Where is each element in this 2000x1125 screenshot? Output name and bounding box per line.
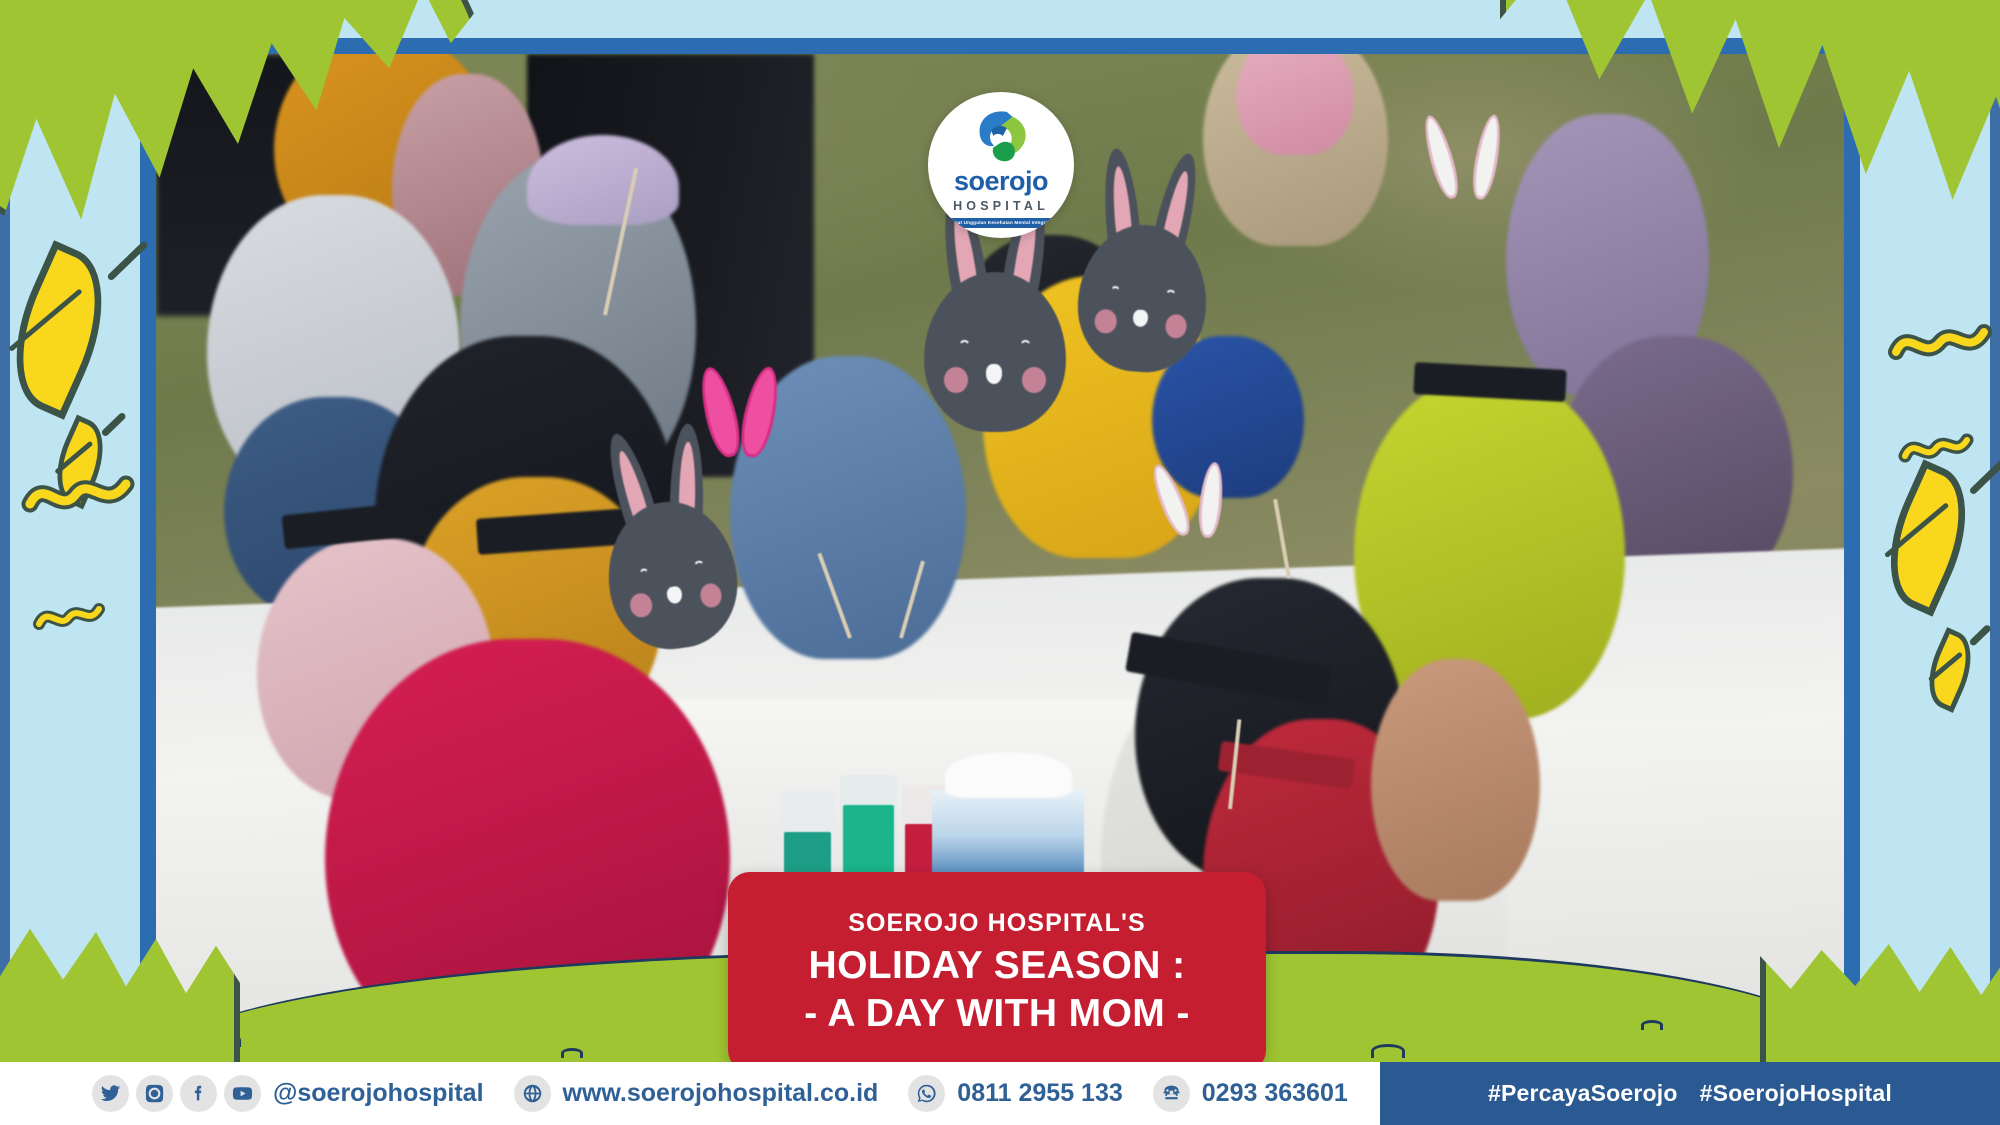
event-title-banner: SOEROJO HOSPITAL'S HOLIDAY SEASON : - A … [728, 872, 1266, 1072]
soerojo-hospital-logo: soerojo HOSPITAL Pusat Unggulan Kesehata… [928, 92, 1074, 238]
website-group: www.soerojohospital.co.id [514, 1075, 879, 1112]
instagram-icon[interactable] [136, 1075, 173, 1112]
twitter-icon[interactable] [92, 1075, 129, 1112]
squiggle-icon-3 [1900, 430, 1972, 466]
footer-hashtag-area: #PercayaSoerojo #SoerojoHospital [1380, 1062, 2000, 1125]
phone-text: 0293 363601 [1202, 1079, 1348, 1108]
youtube-icon[interactable] [224, 1075, 261, 1112]
footer-bar: @soerojohospital www.soerojohospital.co.… [0, 1062, 2000, 1125]
squiggle-icon-2 [1890, 320, 1990, 366]
banner-line-2: HOLIDAY SEASON : [809, 944, 1186, 988]
social-handle-group: @soerojohospital [92, 1075, 484, 1112]
white-bunny-ears-1 [1430, 114, 1520, 224]
whatsapp-group: 0811 2955 133 [908, 1075, 1122, 1112]
phone-group: 0293 363601 [1153, 1075, 1348, 1112]
leaf-icon-1 [0, 240, 129, 420]
website-text: www.soerojohospital.co.id [563, 1079, 879, 1108]
banner-line-1: SOEROJO HOSPITAL'S [848, 909, 1146, 938]
right-rail [1990, 0, 2000, 1125]
squiggle-icon-4 [34, 600, 104, 634]
arm-foreground [1371, 659, 1540, 901]
footer-contact-area: @soerojohospital www.soerojohospital.co.… [0, 1062, 1380, 1125]
figure-pink-hijab-top [1236, 54, 1354, 155]
logo-subtitle: HOSPITAL [953, 199, 1049, 213]
whatsapp-icon[interactable] [908, 1075, 945, 1112]
whatsapp-text: 0811 2955 133 [957, 1079, 1122, 1108]
white-bunny-ears-2 [1160, 462, 1240, 558]
banner-line-3: - A DAY WITH MOM - [804, 992, 1190, 1036]
telephone-icon[interactable] [1153, 1075, 1190, 1112]
bunny-mask-boy [1073, 146, 1216, 376]
logo-wordmark: soerojo [954, 168, 1048, 195]
leaf-icon-3 [1867, 459, 1990, 616]
facebook-icon[interactable] [180, 1075, 217, 1112]
squiggle-icon-1 [24, 470, 134, 520]
hashtag-soerojo-hospital: #SoerojoHospital [1700, 1080, 1892, 1107]
soerojo-swirl-logo-icon [970, 107, 1032, 165]
leaf-icon-4 [1916, 627, 1983, 713]
hashtag-percaya-soerojo: #PercayaSoerojo [1488, 1080, 1678, 1107]
poster-canvas: soerojo HOSPITAL Pusat Unggulan Kesehata… [0, 0, 2000, 1125]
social-handle-text: @soerojohospital [273, 1079, 484, 1108]
globe-icon[interactable] [514, 1075, 551, 1112]
